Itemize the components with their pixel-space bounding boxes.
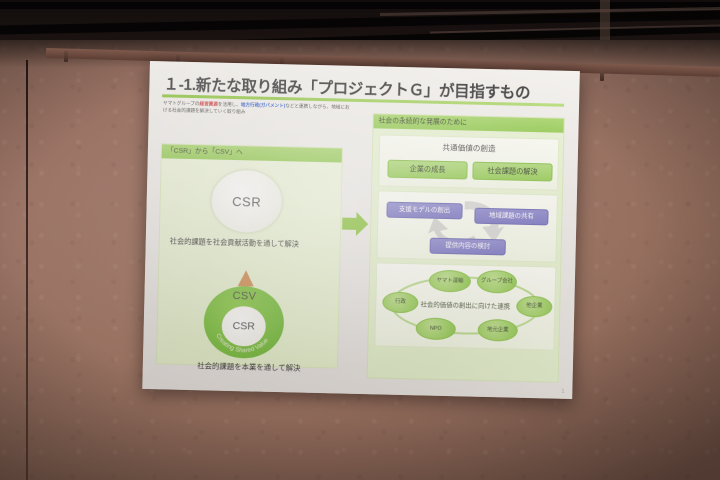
- pill-regional-issue-sharing: 地域課題の共有: [474, 208, 548, 226]
- lead-part-1: ヤマトグループの: [163, 100, 200, 106]
- lead-highlight-2: 地方行政(ガバメント): [241, 102, 286, 108]
- csr-circle-label: CSR: [232, 193, 261, 209]
- wall-corner-edge: [26, 60, 28, 480]
- right-panel-band-label: 社会の永続的な発展のために: [373, 114, 563, 132]
- room-scene: １-1.新たな取り組み「プロジェクトＧ」が目指すもの ヤマトグループの経営資源を…: [0, 0, 720, 480]
- pill-service-review: 提供内容の検討: [430, 238, 506, 256]
- node-yamato-transport: ヤマト運輸: [429, 270, 472, 293]
- left-panel: 「CSR」から「CSV」へ CSR 社会的課題を社会貢献活動を通して解決 CSV…: [156, 143, 343, 368]
- lead-part-2: を活用し、: [218, 102, 241, 108]
- node-local-business: 地元企業: [477, 319, 518, 342]
- upward-arrow-icon: [238, 270, 254, 286]
- csv-description: 社会的課題を本業を通して解決: [167, 359, 331, 374]
- svg-text:Creating Shared Value: Creating Shared Value: [214, 332, 271, 354]
- slide-page-number: 1: [561, 389, 564, 395]
- shared-value-heading: 共通価値の創造: [380, 140, 558, 155]
- pill-support-model: 支援モデルの創出: [386, 202, 462, 220]
- shared-value-box: 共通価値の創造 企業の成長 社会課題の解決: [378, 134, 559, 190]
- node-npo: NPO: [416, 317, 457, 340]
- projection-screen: １-1.新たな取り組み「プロジェクトＧ」が目指すもの ヤマトグループの経営資源を…: [142, 61, 580, 399]
- lead-highlight-1: 経営資源: [199, 101, 218, 106]
- transition-arrow-icon: [342, 212, 369, 237]
- left-panel-band-label: 「CSR」から「CSV」へ: [162, 144, 342, 162]
- rail-clip: [64, 51, 68, 62]
- pill-corporate-growth: 企業の成長: [387, 160, 467, 180]
- csr-description: 社会的課題を社会貢献活動を通して解決: [170, 237, 334, 252]
- right-panel: 社会の永続的な発展のために 共通価値の創造 企業の成長 社会課題の解決 支援モデ…: [367, 113, 565, 382]
- csr-circle: CSR: [211, 170, 282, 234]
- csv-ring: CSV CSR Creating Shared Value: [203, 285, 285, 359]
- partners-box: ヤマト運輸 グループ会社 行政 他企業 NPO 地元企業 社会的価値の創出に向け…: [374, 262, 556, 350]
- rail-clip: [600, 70, 604, 81]
- pill-social-issue-solution: 社会課題の解決: [472, 162, 552, 182]
- cycle-box: 支援モデルの創出 地域課題の共有 提供内容の検討: [376, 190, 558, 262]
- lead-paragraph: ヤマトグループの経営資源を活用し、地方行政(ガバメント)などと連携しながら、地域…: [163, 100, 353, 118]
- creating-shared-value-arc: Creating Shared Value: [203, 285, 285, 359]
- presentation-slide: １-1.新たな取り組み「プロジェクトＧ」が目指すもの ヤマトグループの経営資源を…: [142, 61, 580, 399]
